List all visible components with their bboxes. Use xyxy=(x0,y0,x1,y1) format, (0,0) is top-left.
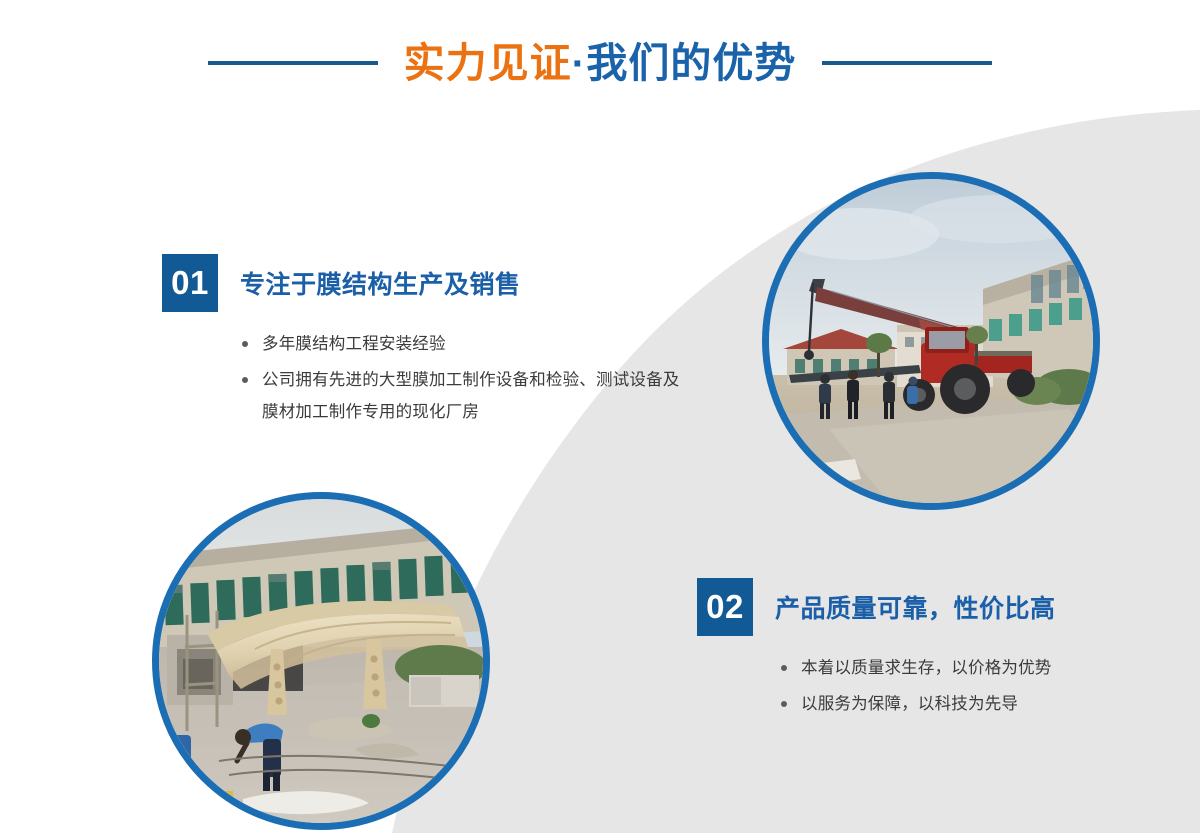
page-title: 实力见证·我们的优势 xyxy=(404,43,797,84)
photo-canopy xyxy=(159,499,483,823)
list-item-text: 以服务为保障，以科技为先导 xyxy=(801,695,1018,713)
list-item-text: 本着以质量求生存，以价格为优势 xyxy=(801,659,1052,677)
title-rule-left xyxy=(208,61,378,65)
page-title-orange: 实力见证 xyxy=(404,40,572,86)
bullet-dot-icon xyxy=(242,377,248,383)
feature-01-number-badge: 01 xyxy=(162,254,218,312)
feature-02-bullet-list: 本着以质量求生存，以价格为优势 以服务为保障，以科技为先导 xyxy=(697,652,1167,720)
section-title-row: 实力见证·我们的优势 xyxy=(0,34,1200,92)
page-title-blue: ·我们的优势 xyxy=(572,40,797,86)
advantages-banner: 实力见证·我们的优势 xyxy=(0,0,1200,833)
photo-crane xyxy=(769,179,1093,503)
feature-01-bullet-list: 多年膜结构工程安装经验 公司拥有先进的大型膜加工制作设备和检验、测试设备及膜材加… xyxy=(162,328,722,428)
bullet-dot-icon xyxy=(242,341,248,347)
feature-01-title: 专注于膜结构生产及销售 xyxy=(240,265,521,301)
list-item: 多年膜结构工程安装经验 xyxy=(240,328,682,360)
photo-circle-canopy xyxy=(152,492,490,830)
feature-01-header: 01 专注于膜结构生产及销售 xyxy=(162,254,722,312)
bullet-dot-icon xyxy=(781,665,787,671)
list-item: 以服务为保障，以科技为先导 xyxy=(779,688,1167,720)
list-item-text: 公司拥有先进的大型膜加工制作设备和检验、测试设备及膜材加工制作专用的现化厂房 xyxy=(262,371,680,421)
title-rule-right xyxy=(822,61,992,65)
bullet-dot-icon xyxy=(781,701,787,707)
crane-site-illustration xyxy=(769,179,1093,503)
list-item: 本着以质量求生存，以价格为优势 xyxy=(779,652,1167,684)
feature-02-number-badge: 02 xyxy=(697,578,753,636)
feature-02-header: 02 产品质量可靠，性价比高 xyxy=(697,578,1167,636)
feature-block-01: 01 专注于膜结构生产及销售 多年膜结构工程安装经验 公司拥有先进的大型膜加工制… xyxy=(162,254,722,432)
membrane-canopy-illustration xyxy=(159,499,483,823)
photo-circle-crane xyxy=(762,172,1100,510)
feature-block-02: 02 产品质量可靠，性价比高 本着以质量求生存，以价格为优势 以服务为保障，以科… xyxy=(697,578,1167,724)
list-item-text: 多年膜结构工程安装经验 xyxy=(262,335,446,353)
list-item: 公司拥有先进的大型膜加工制作设备和检验、测试设备及膜材加工制作专用的现化厂房 xyxy=(240,364,682,428)
feature-02-title: 产品质量可靠，性价比高 xyxy=(775,589,1056,625)
